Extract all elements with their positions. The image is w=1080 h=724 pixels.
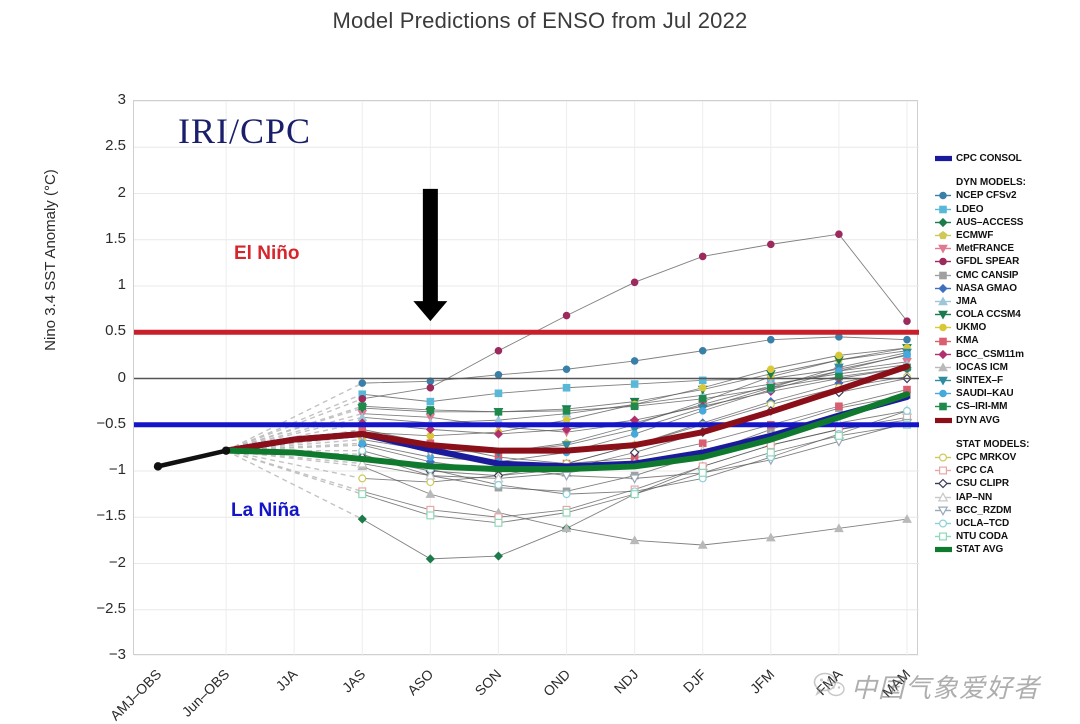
- data-point: [563, 509, 570, 516]
- legend-item-ldeo[interactable]: LDEO: [934, 203, 1080, 216]
- legend-swatch: [934, 295, 954, 308]
- triangle-down-marker: [934, 308, 954, 321]
- triangle-down-marker: [934, 242, 954, 255]
- legend-label: IOCAS ICM: [956, 361, 1008, 374]
- legend-item-kma[interactable]: KMA: [934, 334, 1080, 347]
- legend-label: NCEP CFSv2: [956, 189, 1017, 202]
- data-point: [631, 358, 638, 365]
- data-point: [631, 431, 638, 438]
- x-tick-label: ASO: [404, 666, 436, 698]
- legend-swatch: [934, 504, 954, 517]
- square-open-marker: [934, 464, 954, 477]
- legend-item-jma[interactable]: JMA: [934, 295, 1080, 308]
- legend-label: ECMWF: [956, 229, 993, 242]
- data-point: [495, 408, 502, 415]
- legend-swatch: [934, 216, 954, 229]
- legend-label: COLA CCSM4: [956, 308, 1021, 321]
- data-point: [359, 447, 366, 454]
- y-tick-label: −2.5: [86, 600, 126, 617]
- data-point: [836, 432, 843, 439]
- data-point: [940, 533, 947, 540]
- observation-line: [158, 451, 226, 467]
- circle-open-marker: [934, 517, 954, 530]
- data-point: [836, 352, 843, 359]
- data-point: [940, 467, 947, 474]
- legend-swatch: [934, 464, 954, 477]
- watermark: 中国气象爱好者: [812, 655, 1080, 717]
- square-open-marker: [934, 530, 954, 543]
- data-point: [495, 390, 502, 397]
- legend-item-bcc-csm11m[interactable]: BCC_CSM11m: [934, 348, 1080, 361]
- data-point: [940, 324, 947, 331]
- data-point: [940, 338, 947, 345]
- legend-item-aus-access[interactable]: AUS–ACCESS: [934, 216, 1080, 229]
- data-point: [940, 206, 947, 213]
- x-axis-ticks: AMJ–OBSJun–OBSJJAJASASOSONONDNDJDJFJFMFM…: [133, 660, 918, 723]
- data-point: [427, 407, 434, 414]
- x-tick-label: NDJ: [610, 666, 641, 697]
- legend-label: BCC_CSM11m: [956, 348, 1024, 361]
- legend-item-nasa-gmao[interactable]: NASA GMAO: [934, 282, 1080, 295]
- data-point: [903, 515, 911, 523]
- legend-swatch: [934, 543, 954, 556]
- data-point: [427, 512, 434, 519]
- legend-spacer: [934, 165, 1080, 176]
- data-point: [940, 520, 947, 527]
- y-axis-label-wrap: Nino 3.4 SST Anomaly (°C): [48, 100, 78, 655]
- data-point: [904, 407, 911, 414]
- legend-item-cs-iri-mm[interactable]: CS–IRI-MM: [934, 400, 1080, 413]
- y-tick-label: −2: [86, 554, 126, 571]
- diamond-marker: [934, 348, 954, 361]
- legend-label: STAT AVG: [956, 543, 1003, 556]
- legend-label: CPC MRKOV: [956, 451, 1016, 464]
- data-point: [495, 371, 502, 378]
- legend-swatch: [934, 242, 954, 255]
- data-point: [939, 232, 947, 239]
- data-point: [767, 366, 774, 373]
- legend-item-ukmo[interactable]: UKMO: [934, 321, 1080, 334]
- y-axis-ticks: 32.521.510.50−0.5−1−1.5−2−2.5−3: [80, 100, 126, 655]
- y-tick-label: 0: [86, 369, 126, 386]
- circle-marker: [934, 321, 954, 334]
- legend-item-metfrance[interactable]: MetFRANCE: [934, 242, 1080, 255]
- legend-swatch: [934, 203, 954, 216]
- data-point: [563, 312, 570, 319]
- data-point: [699, 469, 706, 476]
- data-point: [426, 555, 434, 563]
- legend-swatch: [934, 491, 954, 504]
- data-point: [631, 381, 638, 388]
- legend-label: SINTEX–F: [956, 374, 1003, 387]
- data-point: [699, 253, 706, 260]
- data-point: [563, 384, 570, 391]
- legend-swatch: [934, 517, 954, 530]
- legend-swatch: [934, 451, 954, 464]
- pentagon-marker: [934, 229, 954, 242]
- x-tick-label: Jun–OBS: [179, 666, 233, 720]
- x-tick-label: JJA: [273, 666, 301, 694]
- y-tick-label: 1: [86, 276, 126, 293]
- legend-swatch: [934, 530, 954, 543]
- iri-cpc-logo: IRI/CPC: [178, 110, 311, 152]
- square-marker: [934, 203, 954, 216]
- y-axis-label: Nino 3.4 SST Anomaly (°C): [42, 130, 59, 390]
- legend-label: AUS–ACCESS: [956, 216, 1023, 229]
- legend-label: CMC CANSIP: [956, 269, 1018, 282]
- legend-item-cmc-cansip[interactable]: CMC CANSIP: [934, 269, 1080, 282]
- legend-label: LDEO: [956, 203, 983, 216]
- watermark-text: 中国气象爱好者: [851, 668, 1040, 705]
- y-tick-label: 2: [86, 184, 126, 201]
- data-point: [940, 454, 947, 461]
- legend-label: CS–IRI-MM: [956, 400, 1007, 413]
- data-point: [940, 193, 947, 200]
- observation-point: [222, 446, 230, 454]
- data-point: [495, 347, 502, 354]
- data-point: [940, 404, 947, 411]
- diamond-marker: [934, 216, 954, 229]
- enso-forecast-plot: Model Predictions of ENSO from Jul 2022 …: [0, 0, 1080, 723]
- legend-item-ucla-tcd[interactable]: UCLA–TCD: [934, 517, 1080, 530]
- legend-swatch: [934, 387, 954, 400]
- legend-label: GFDL SPEAR: [956, 255, 1019, 268]
- y-tick-label: 0.5: [86, 322, 126, 339]
- thick-line-marker: [934, 152, 954, 165]
- down-arrow: [413, 189, 447, 321]
- square-marker: [934, 335, 954, 348]
- legend-label: MetFRANCE: [956, 242, 1014, 255]
- data-point: [699, 407, 706, 414]
- legend: CPC CONSOLDYN MODELS:NCEP CFSv2LDEOAUS–A…: [934, 152, 1080, 556]
- data-point: [904, 351, 911, 358]
- y-tick-label: 3: [86, 91, 126, 108]
- data-point: [359, 475, 366, 482]
- wechat-icon: [812, 671, 846, 701]
- data-point: [494, 552, 502, 560]
- legend-group-header: DYN MODELS:: [934, 176, 1080, 189]
- legend-swatch: [934, 361, 954, 374]
- data-point: [358, 515, 366, 523]
- data-point: [699, 384, 706, 391]
- data-point: [631, 279, 638, 286]
- data-point: [359, 380, 366, 387]
- data-point: [836, 231, 843, 238]
- plot-canvas: [134, 101, 919, 656]
- data-point: [940, 272, 947, 279]
- x-tick-label: JAS: [339, 666, 368, 695]
- data-point: [359, 403, 366, 410]
- data-point: [427, 384, 434, 391]
- legend-swatch: [934, 414, 954, 427]
- legend-item-sintex-f[interactable]: SINTEX–F: [934, 374, 1080, 387]
- data-point: [940, 259, 947, 266]
- thick-line-marker: [934, 543, 954, 556]
- data-point: [359, 491, 366, 498]
- circle-marker: [934, 255, 954, 268]
- circle-marker: [934, 387, 954, 400]
- legend-swatch: [934, 374, 954, 387]
- legend-swatch: [934, 229, 954, 242]
- data-point: [836, 403, 843, 410]
- y-tick-label: −1: [86, 461, 126, 478]
- legend-item-saudi-kau[interactable]: SAUDI–KAU: [934, 387, 1080, 400]
- circle-open-marker: [934, 451, 954, 464]
- data-point: [904, 318, 911, 325]
- diamond-marker: [934, 282, 954, 295]
- legend-label: KMA: [956, 334, 978, 347]
- legend-swatch: [934, 269, 954, 282]
- legend-swatch: [934, 189, 954, 202]
- legend-label: BCC_RZDM: [956, 504, 1011, 517]
- data-point: [495, 519, 502, 526]
- data-point: [631, 491, 638, 498]
- legend-group-header: STAT MODELS:: [934, 438, 1080, 451]
- square-marker: [934, 269, 954, 282]
- legend-item-dyn-avg[interactable]: DYN AVG: [934, 414, 1080, 427]
- observation-point: [154, 462, 162, 470]
- y-tick-label: 1.5: [86, 230, 126, 247]
- legend-spacer: [934, 427, 1080, 438]
- la-nina-label: La Niña: [231, 500, 300, 522]
- data-point: [940, 390, 947, 397]
- legend-item-cola-ccsm4[interactable]: COLA CCSM4: [934, 308, 1080, 321]
- legend-item-gfdl-spear[interactable]: GFDL SPEAR: [934, 255, 1080, 268]
- data-point: [939, 480, 947, 488]
- data-point: [939, 284, 947, 292]
- data-point: [631, 403, 638, 410]
- x-tick-label: OND: [540, 666, 573, 699]
- triangle-up-marker: [934, 361, 954, 374]
- data-point: [563, 491, 570, 498]
- triangle-up-open-marker: [934, 491, 954, 504]
- legend-item-stat-avg[interactable]: STAT AVG: [934, 543, 1080, 556]
- legend-item-cpc-consol[interactable]: CPC CONSOL: [934, 152, 1080, 165]
- legend-label: IAP–NN: [956, 491, 992, 504]
- legend-label: CPC CA: [956, 464, 994, 477]
- data-point: [767, 241, 774, 248]
- legend-item-iocas-icm[interactable]: IOCAS ICM: [934, 361, 1080, 374]
- legend-label: JMA: [956, 295, 977, 308]
- data-point: [699, 463, 706, 470]
- data-point: [767, 449, 774, 456]
- el-nino-label: El Niño: [234, 243, 299, 265]
- square-marker: [934, 400, 954, 413]
- legend-swatch: [934, 321, 954, 334]
- data-point: [359, 395, 366, 402]
- legend-swatch: [934, 335, 954, 348]
- legend-item-iap-nn[interactable]: IAP–NN: [934, 491, 1080, 504]
- data-point: [939, 350, 947, 358]
- data-point: [699, 395, 706, 402]
- y-tick-label: −0.5: [86, 415, 126, 432]
- data-point: [426, 490, 434, 498]
- legend-item-bcc-rzdm[interactable]: BCC_RZDM: [934, 504, 1080, 517]
- thick-line-marker: [934, 414, 954, 427]
- legend-swatch: [934, 400, 954, 413]
- legend-swatch: [934, 477, 954, 490]
- legend-label: NTU CODA: [956, 530, 1008, 543]
- legend-item-ntu-coda[interactable]: NTU CODA: [934, 530, 1080, 543]
- y-tick-label: −3: [86, 646, 126, 663]
- legend-swatch: [934, 282, 954, 295]
- legend-label: UCLA–TCD: [956, 517, 1009, 530]
- page-title: Model Predictions of ENSO from Jul 2022: [0, 8, 1080, 34]
- x-tick-label: AMJ–OBS: [107, 666, 165, 724]
- data-point: [495, 481, 502, 488]
- legend-label: CPC CONSOL: [956, 152, 1022, 165]
- y-tick-label: 2.5: [86, 137, 126, 154]
- data-point: [427, 398, 434, 405]
- data-point: [767, 384, 774, 391]
- x-tick-label: DJF: [680, 666, 709, 695]
- x-tick-label: SON: [472, 666, 505, 699]
- data-point: [767, 336, 774, 343]
- legend-item-cpc-mrkov[interactable]: CPC MRKOV: [934, 451, 1080, 464]
- y-tick-label: −1.5: [86, 507, 126, 524]
- data-point: [904, 336, 911, 343]
- legend-swatch: [934, 348, 954, 361]
- data-point: [563, 407, 570, 414]
- legend-label: UKMO: [956, 321, 986, 334]
- legend-item-ncep-cfsv2[interactable]: NCEP CFSv2: [934, 189, 1080, 202]
- triangle-up-marker: [934, 295, 954, 308]
- x-tick-label: JFM: [747, 666, 778, 697]
- data-point: [939, 218, 947, 226]
- legend-label: DYN AVG: [956, 414, 1000, 427]
- triangle-down-open-marker: [934, 504, 954, 517]
- legend-label: NASA GMAO: [956, 282, 1017, 295]
- legend-label: CSU CLIPR: [956, 477, 1009, 490]
- plot-area: [133, 100, 918, 655]
- diamond-open-marker: [934, 477, 954, 490]
- triangle-down-marker: [934, 374, 954, 387]
- data-point: [427, 479, 434, 486]
- data-point: [699, 347, 706, 354]
- legend-swatch: [934, 255, 954, 268]
- data-point: [563, 366, 570, 373]
- legend-item-ecmwf[interactable]: ECMWF: [934, 229, 1080, 242]
- legend-swatch: [934, 308, 954, 321]
- circle-marker: [934, 189, 954, 202]
- legend-swatch: [934, 152, 954, 165]
- legend-item-cpc-ca[interactable]: CPC CA: [934, 464, 1080, 477]
- legend-item-csu-clipr[interactable]: CSU CLIPR: [934, 477, 1080, 490]
- legend-label: SAUDI–KAU: [956, 387, 1013, 400]
